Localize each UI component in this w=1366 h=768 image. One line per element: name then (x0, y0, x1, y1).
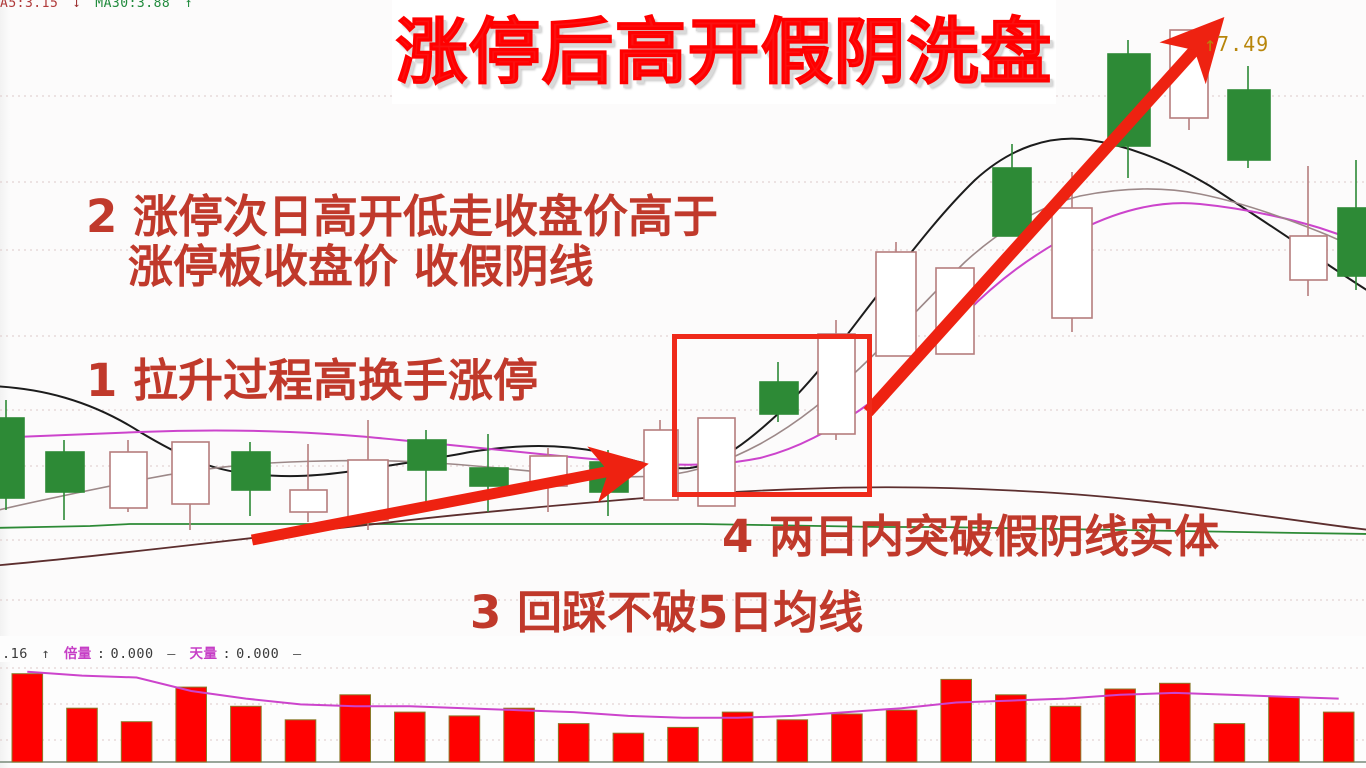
candle (1170, 30, 1208, 130)
annotation-3-text: 回踩不破5日均线 (517, 586, 863, 639)
volume-bar (285, 720, 316, 762)
volume-info-bar: .16 ↑ 倍量:0.000 — 天量:0.000 — (2, 642, 307, 660)
candle (110, 440, 147, 512)
candle (993, 144, 1031, 236)
volume-bar (504, 708, 535, 762)
volume-bar (231, 706, 262, 762)
volume-readout: .16 (2, 646, 28, 662)
volume-bar (121, 722, 152, 762)
chart-stage: A5:3.15 ↓ MA30:3.88 ↑ 涨停后高开假阴洗盘 2 涨停次日高开… (0, 0, 1366, 768)
volume-bar (12, 674, 43, 762)
annotation-4-number: 4 (722, 510, 753, 563)
volume-bar (558, 724, 589, 762)
volume-bar (1323, 712, 1354, 762)
ma5-readout: A5:3.15 (0, 0, 58, 11)
annotation-3: 3 回踩不破5日均线 (470, 588, 863, 638)
highlight-rectangle (672, 334, 872, 497)
annotation-2-text1: 涨停次日高开低走收盘价高于 (133, 190, 718, 243)
ma30-readout: MA30:3.88 (95, 0, 170, 11)
price-label-value: 7.49 (1217, 32, 1269, 56)
beiliang-label: 倍量 (64, 646, 92, 662)
volume-bar (996, 695, 1027, 762)
volume-bar (1269, 697, 1300, 762)
volume-bar (668, 727, 699, 762)
volume-bar (722, 712, 753, 762)
price-label-marker-icon: ↑ (1204, 32, 1217, 56)
annotation-2-text2: 涨停板收盘价 收假阴线 (128, 242, 718, 292)
volume-bar (886, 710, 917, 762)
volume-bar (832, 714, 863, 762)
candle (290, 444, 327, 522)
tianliang-colon: : (223, 646, 232, 662)
candle (172, 442, 209, 530)
candle (0, 400, 24, 510)
annotation-4-text: 两日内突破假阴线实体 (769, 510, 1219, 563)
annotation-3-number: 3 (470, 586, 501, 639)
price-label: ↑7.49 (1204, 32, 1269, 56)
title-banner: 涨停后高开假阴洗盘 (392, 0, 1056, 104)
candle (408, 430, 446, 508)
volume-bar (1214, 724, 1245, 762)
volume-bar (777, 720, 808, 762)
candle (232, 442, 270, 516)
candle (876, 242, 916, 356)
annotation-1-text: 拉升过程高换手涨停 (133, 354, 538, 407)
annotation-4: 4 两日内突破假阴线实体 (722, 512, 1219, 562)
volume-canvas (0, 662, 1366, 768)
tianliang-number: 0.000 (236, 646, 279, 662)
beiliang-value: : (97, 646, 106, 662)
volume-bar (1160, 683, 1191, 762)
volume-panel (0, 662, 1366, 768)
page-title: 涨停后高开假阴洗盘 (395, 16, 1052, 88)
beiliang-dash: — (167, 646, 176, 662)
candle (1338, 160, 1366, 290)
volume-bar (340, 695, 371, 762)
candle (1228, 66, 1270, 168)
annotation-1: 1 拉升过程高换手涨停 (86, 356, 538, 406)
volume-bar (941, 679, 972, 762)
ma30-up-arrow-icon: ↑ (185, 0, 193, 11)
volume-bar (613, 733, 644, 762)
beiliang-number: 0.000 (110, 646, 153, 662)
annotation-2-line1: 2 涨停次日高开低走收盘价高于 (86, 190, 718, 243)
candle (46, 440, 84, 520)
annotation-2: 2 涨停次日高开低走收盘价高于 涨停板收盘价 收假阴线 (86, 192, 718, 293)
annotation-2-number: 2 (86, 190, 117, 243)
volume-bar (176, 687, 207, 762)
volume-ma-line (27, 672, 1338, 718)
volume-bar (1105, 689, 1136, 762)
ma5-down-arrow-icon: ↓ (73, 0, 81, 11)
volume-up-arrow-icon: ↑ (42, 646, 51, 662)
volume-bar (395, 712, 426, 762)
candle (1290, 166, 1327, 296)
quote-info-bar: A5:3.15 ↓ MA30:3.88 ↑ (0, 0, 199, 12)
volume-bar (449, 716, 480, 762)
tianliang-label: 天量 (190, 646, 218, 662)
annotation-1-number: 1 (86, 354, 117, 407)
volume-bar (1050, 706, 1081, 762)
tianliang-dash: — (293, 646, 302, 662)
volume-bar (67, 708, 98, 762)
